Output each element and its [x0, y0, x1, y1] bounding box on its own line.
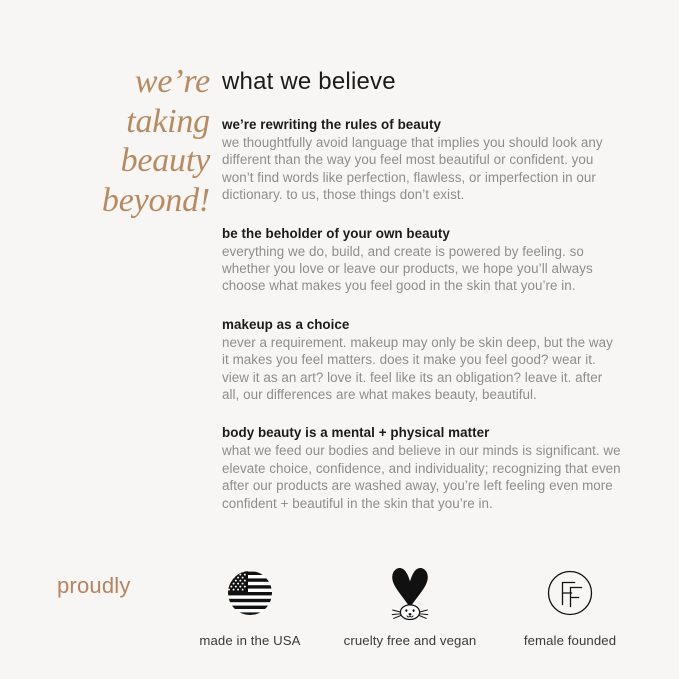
belief-block: be the beholder of your own beauty every…	[222, 225, 622, 295]
badge-female-founded: female founded	[495, 562, 645, 649]
brand-headline: we’re taking beauty beyond!	[58, 62, 210, 220]
belief-heading: makeup as a choice	[222, 316, 622, 333]
badge-made-in-usa: made in the USA	[175, 562, 325, 649]
belief-heading: we’re rewriting the rules of beauty	[222, 116, 622, 133]
belief-body: we thoughtfully avoid language that impl…	[222, 134, 622, 204]
belief-body: everything we do, build, and create is p…	[222, 243, 622, 295]
badge-label: female founded	[524, 633, 616, 649]
belief-body: never a requirement. makeup may only be …	[222, 334, 622, 404]
badge-label: cruelty free and vegan	[344, 633, 477, 649]
certification-badges: made in the USA	[175, 562, 645, 649]
belief-heading: body beauty is a mental + physical matte…	[222, 424, 622, 441]
belief-block: we’re rewriting the rules of beauty we t…	[222, 116, 622, 204]
brand-values-panel: we’re taking beauty beyond! what we beli…	[0, 0, 679, 679]
badge-cruelty-free: cruelty free and vegan	[335, 562, 485, 649]
headline-line-1: we’re	[58, 62, 210, 102]
what-we-believe-section: what we believe we’re rewriting the rule…	[222, 68, 622, 512]
belief-block: body beauty is a mental + physical matte…	[222, 424, 622, 512]
proudly-label: proudly	[57, 573, 131, 599]
headline-line-4: beyond!	[58, 181, 210, 221]
belief-block: makeup as a choice never a requirement. …	[222, 316, 622, 404]
section-title: what we believe	[222, 68, 622, 96]
headline-line-2: taking	[58, 102, 210, 142]
badge-label: made in the USA	[199, 633, 300, 649]
female-founded-monogram-icon	[545, 562, 595, 624]
belief-body: what we feed our bodies and believe in o…	[222, 442, 622, 512]
belief-heading: be the beholder of your own beauty	[222, 225, 622, 242]
headline-line-3: beauty	[58, 141, 210, 181]
cruelty-free-bunny-icon	[384, 562, 436, 624]
usa-flag-circle-icon	[226, 562, 274, 624]
